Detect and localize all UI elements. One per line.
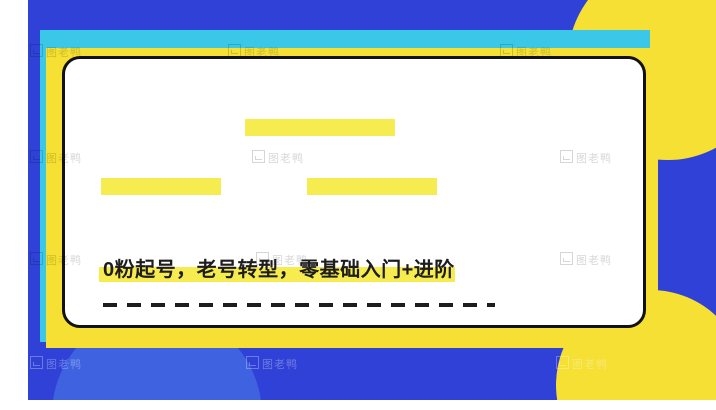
decorative-bottom-band: [0, 400, 716, 410]
dashed-divider: [103, 303, 495, 307]
subtitle: 0粉起号，老号转型，零基础入门+进阶: [101, 251, 457, 284]
headline-block: 图书实拍单号， 带货运营实操课: [101, 83, 611, 328]
content-card: 图书实拍单号， 带货运营实操课 0粉起号，老号转型，零基础入门+进阶: [62, 56, 646, 328]
highlight-bar-3: [307, 178, 437, 195]
course-banner-image: 图书实拍单号， 带货运营实操课 0粉起号，老号转型，零基础入门+进阶 图老鸭 图…: [0, 0, 716, 410]
highlight-bar-1: [245, 119, 395, 136]
decorative-left-band: [0, 0, 28, 410]
highlight-bar-2: [101, 178, 221, 195]
headline-line-1: 图书实拍单号，: [101, 310, 611, 328]
subtitle-block: 0粉起号，老号转型，零基础入门+进阶: [101, 251, 621, 284]
